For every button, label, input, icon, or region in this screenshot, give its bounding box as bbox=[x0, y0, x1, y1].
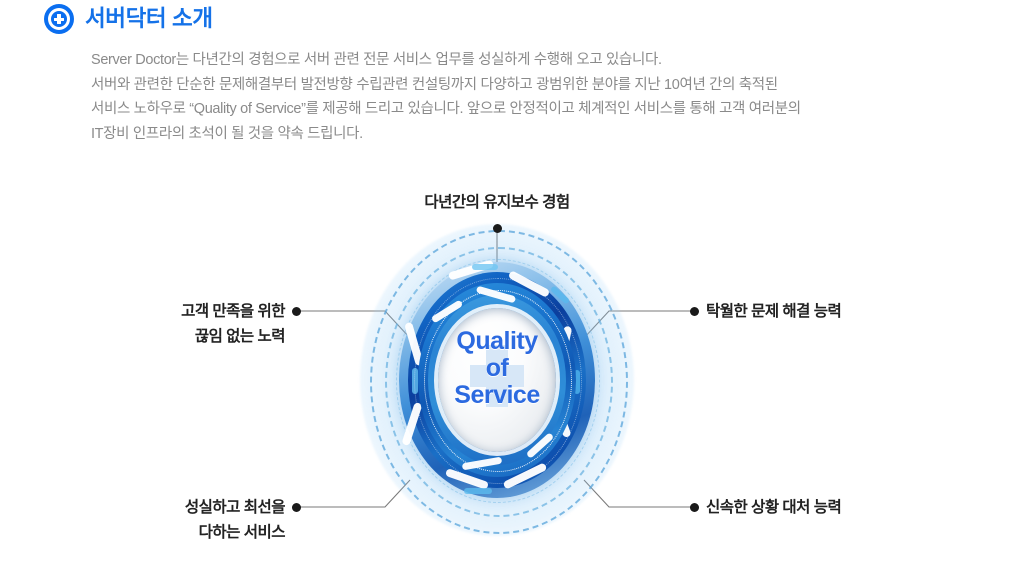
intro-line-1: Server Doctor는 다년간의 경험으로 서버 관련 전문 서비스 업무… bbox=[91, 48, 981, 73]
diagram-label-left-top: 고객 만족을 위한 끊임 없는 노력 bbox=[40, 299, 285, 349]
plus-circle-icon bbox=[44, 4, 74, 34]
diagram-label-right-bottom-text: 신속한 상황 대처 능력 bbox=[706, 499, 841, 516]
center-label-line-3: Service bbox=[438, 382, 556, 409]
tick-segment-5 bbox=[464, 488, 492, 494]
diagram-label-left-bottom-line-2: 다하는 서비스 bbox=[40, 520, 285, 545]
service-diagram: Quality of Service 다년간의 유지보수 경험 고객 만족을 위… bbox=[0, 180, 1024, 580]
dot-top bbox=[493, 224, 502, 233]
center-label-line-2: of bbox=[438, 355, 556, 382]
center-label: Quality of Service bbox=[438, 328, 556, 409]
diagram-label-top-text: 다년간의 유지보수 경험 bbox=[424, 194, 569, 211]
diagram-label-left-bottom-line-1: 성실하고 최선을 bbox=[40, 495, 285, 520]
diagram-label-right-bottom: 신속한 상황 대처 능력 bbox=[706, 495, 841, 520]
page-header: 서버닥터 소개 bbox=[44, 4, 213, 34]
diagram-label-left-top-line-2: 끊임 없는 노력 bbox=[40, 324, 285, 349]
center-label-line-1: Quality bbox=[438, 328, 556, 355]
quality-of-service-graphic: Quality of Service bbox=[352, 220, 642, 540]
diagram-label-left-top-line-1: 고객 만족을 위한 bbox=[40, 299, 285, 324]
diagram-label-right-top: 탁월한 문제 해결 능력 bbox=[706, 299, 841, 324]
icon-plus-vertical bbox=[57, 14, 61, 24]
dot-right-bottom bbox=[690, 503, 699, 512]
intro-line-4: IT장비 인프라의 초석이 될 것을 약속 드립니다. bbox=[91, 122, 981, 147]
page-title: 서버닥터 소개 bbox=[85, 4, 213, 34]
dot-left-bottom bbox=[292, 503, 301, 512]
diagram-label-right-top-text: 탁월한 문제 해결 능력 bbox=[706, 303, 841, 320]
intro-line-3: 서비스 노하우로 “Quality of Service”를 제공해 드리고 있… bbox=[91, 97, 981, 122]
intro-paragraph: Server Doctor는 다년간의 경험으로 서버 관련 전문 서비스 업무… bbox=[91, 48, 981, 146]
dot-right-top bbox=[690, 307, 699, 316]
tick-segment-1 bbox=[472, 264, 498, 270]
diagram-label-left-bottom: 성실하고 최선을 다하는 서비스 bbox=[40, 495, 285, 545]
diagram-label-top: 다년간의 유지보수 경험 bbox=[397, 190, 597, 215]
intro-line-2: 서버와 관련한 단순한 문제해결부터 발전방향 수립관련 컨설팅까지 다양하고 … bbox=[91, 73, 981, 98]
dot-left-top bbox=[292, 307, 301, 316]
